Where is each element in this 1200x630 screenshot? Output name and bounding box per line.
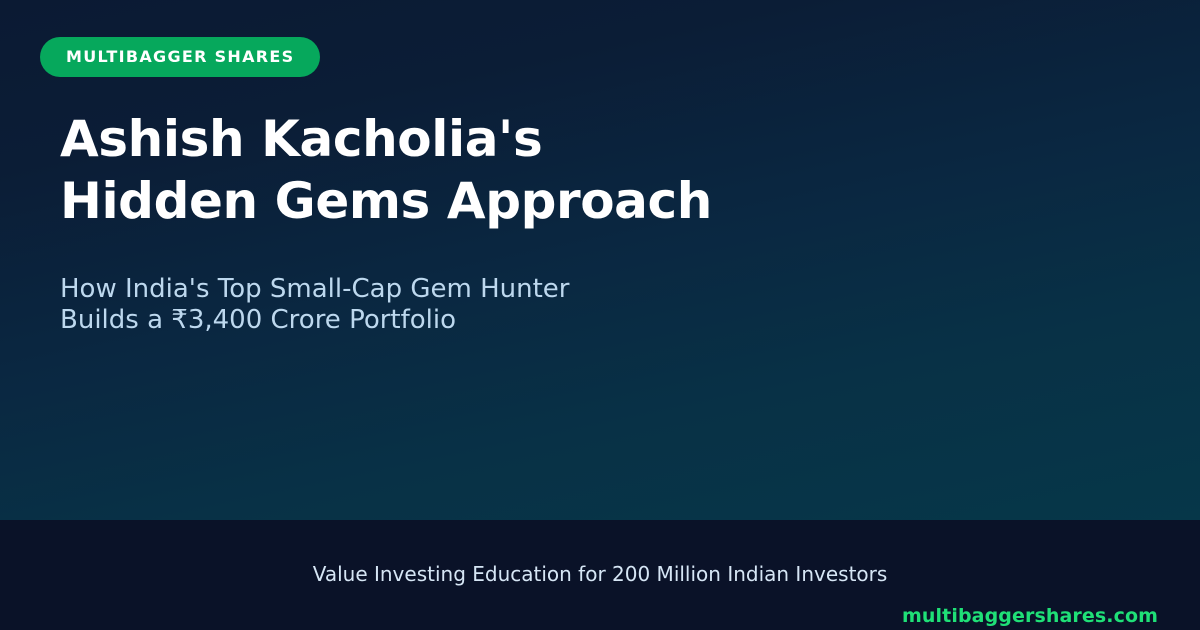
page-subtitle-line-2: Builds a ₹3,400 Crore Portfolio xyxy=(60,305,700,336)
social-share-card: MULTIBAGGER SHARES Ashish Kacholia's Hid… xyxy=(0,0,1200,630)
page-subtitle-line-1: How India's Top Small-Cap Gem Hunter xyxy=(60,274,700,305)
page-title-line-1: Ashish Kacholia's xyxy=(60,114,820,164)
page-title: Ashish Kacholia's Hidden Gems Approach xyxy=(60,114,820,226)
category-badge: MULTIBAGGER SHARES xyxy=(40,37,320,77)
footer-tagline: Value Investing Education for 200 Millio… xyxy=(0,564,1200,584)
card-footer: Value Investing Education for 200 Millio… xyxy=(0,520,1200,630)
page-title-line-2: Hidden Gems Approach xyxy=(60,176,820,226)
page-subtitle: How India's Top Small-Cap Gem Hunter Bui… xyxy=(60,274,700,335)
card-hero-stage: MULTIBAGGER SHARES Ashish Kacholia's Hid… xyxy=(0,0,1200,520)
footer-website-url[interactable]: multibaggershares.com xyxy=(902,607,1158,626)
